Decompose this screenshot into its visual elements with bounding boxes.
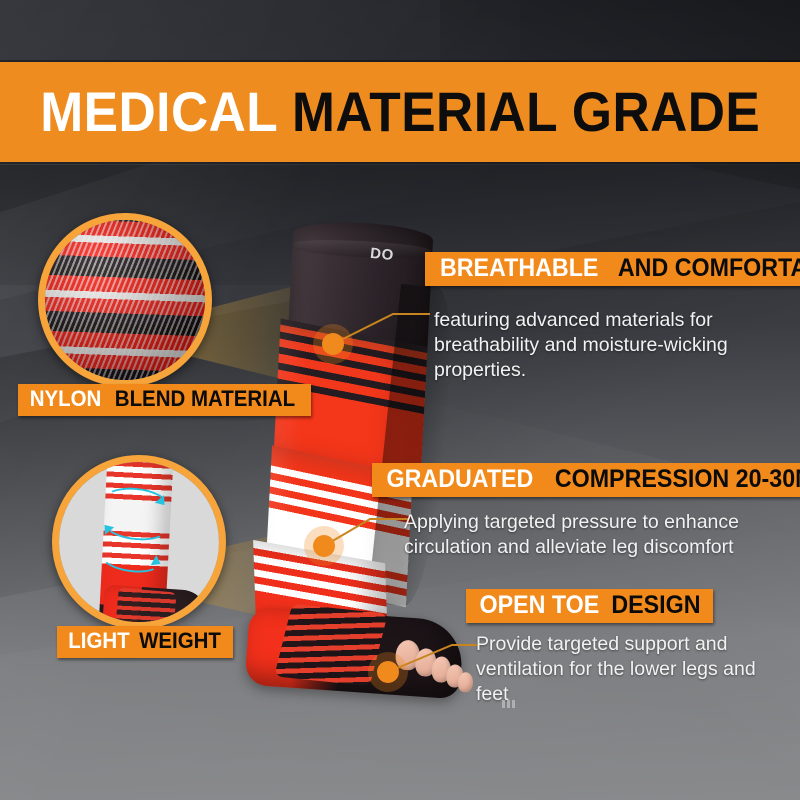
feature-label-graduated: GRADUATED COMPRESSION 20-30MMHG (372, 463, 800, 497)
feature-label-open-toe-primary: OPEN TOE (480, 593, 600, 618)
exposed-toes (393, 637, 474, 694)
page-title-secondary: MATERIAL GRADE (292, 80, 760, 143)
fabric-shading (45, 220, 205, 380)
inset-label-nylon-secondary: BLEND MATERIAL (115, 388, 295, 410)
inset-photo-lightweight (52, 455, 226, 629)
callout-dot-breathable[interactable] (322, 333, 344, 355)
inset-label-lightweight-secondary: WEIGHT (140, 630, 222, 652)
callout-dot-open-toe[interactable] (377, 661, 399, 683)
page-title: MEDICAL MATERIAL GRADE (40, 84, 760, 140)
inset-photo-nylon (38, 213, 212, 387)
inset-label-nylon-primary: NYLON (30, 388, 102, 410)
feature-label-graduated-primary: GRADUATED (387, 467, 534, 492)
header-banner: MEDICAL MATERIAL GRADE (0, 62, 800, 162)
page-title-primary: MEDICAL (40, 80, 277, 143)
feature-body-graduated: Applying targeted pressure to enhance ci… (404, 510, 784, 560)
product-image-sock: DO (245, 222, 475, 692)
brand-logo-text: DO (369, 245, 403, 265)
feature-label-breathable: BREATHABLE AND COMFORTABLE (425, 252, 800, 286)
ankle-sock-foot-stripes (115, 588, 176, 629)
feature-label-breathable-secondary: AND COMFORTABLE (618, 256, 800, 281)
feature-label-graduated-secondary: COMPRESSION 20-30MMHG (555, 467, 800, 492)
inset-label-lightweight: LIGHT WEIGHT (57, 626, 233, 658)
feature-label-open-toe-secondary: DESIGN (612, 593, 701, 618)
toe (457, 672, 473, 693)
watermark (502, 700, 516, 708)
inset-label-nylon: NYLON BLEND MATERIAL (18, 384, 311, 416)
sock-foot-stripes (274, 604, 388, 687)
feature-label-open-toe: OPEN TOE DESIGN (466, 589, 713, 623)
feature-body-breathable: featuring advanced materials for breatha… (434, 308, 764, 383)
callout-dot-graduated[interactable] (313, 535, 335, 557)
inset-label-lightweight-primary: LIGHT (68, 630, 129, 652)
infographic-canvas: MEDICAL MATERIAL GRADE DO (0, 0, 800, 800)
feature-label-breathable-primary: BREATHABLE (440, 256, 598, 281)
feature-body-open-toe: Provide targeted support and ventilation… (476, 632, 781, 707)
